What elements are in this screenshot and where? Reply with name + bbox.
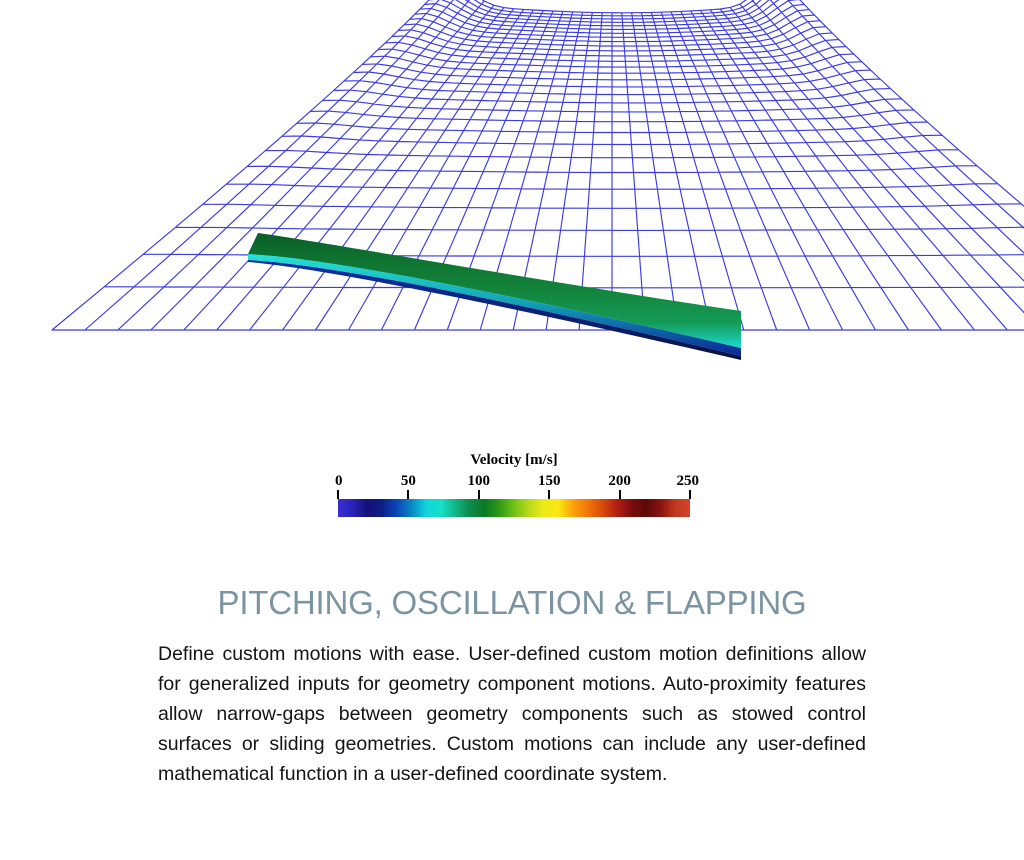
colorbar-tick-label-200: 200	[608, 473, 631, 490]
caption-block: PITCHING, OSCILLATION & FLAPPING Define …	[158, 583, 866, 789]
colorbar-tick-label-100: 100	[468, 473, 491, 490]
velocity-colorbar-legend: Velocity [m/s] 050100150200250	[338, 452, 690, 517]
colorbar-tick-label-50: 50	[401, 473, 416, 490]
colorbar-tick-marks	[338, 490, 690, 499]
colorbar-tick-mark-250	[689, 490, 691, 499]
colorbar-tick-label-250: 250	[677, 473, 700, 490]
colorbar-tick-mark-50	[407, 490, 409, 499]
colorbar-tick-mark-200	[619, 490, 621, 499]
cfd-visualization-canvas	[0, 0, 1024, 440]
colorbar-gradient	[338, 499, 690, 517]
colorbar-tick-label-150: 150	[538, 473, 561, 490]
colorbar-tick-mark-100	[478, 490, 480, 499]
colorbar-tick-label-0: 0	[335, 473, 343, 490]
feature-title: PITCHING, OSCILLATION & FLAPPING	[158, 583, 866, 623]
wing-top-surface	[248, 233, 741, 348]
colorbar-tick-mark-0	[337, 490, 339, 499]
colorbar-title: Velocity [m/s]	[338, 452, 690, 468]
feature-description: Define custom motions with ease. User-de…	[158, 639, 866, 789]
cfd-visualization-panel	[0, 0, 1024, 440]
colorbar-tick-labels: 050100150200250	[338, 473, 690, 490]
colorbar-tick-mark-150	[548, 490, 550, 499]
